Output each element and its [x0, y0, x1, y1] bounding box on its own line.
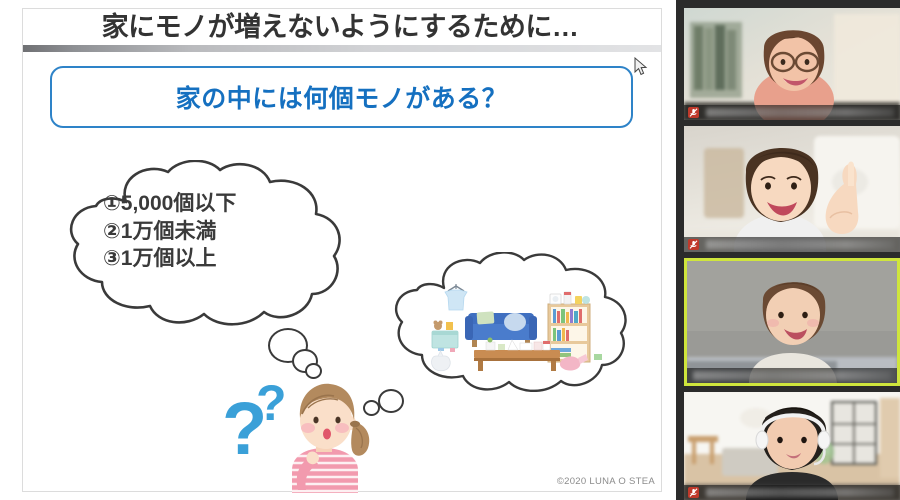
participant-name-bar	[684, 105, 900, 120]
screen-share-view: 家にモノが増えないようにするために… 家の中には何個モノがある？ ①5,000個…	[0, 0, 900, 500]
cursor-arrow-icon	[634, 57, 648, 76]
participant-name-blurred	[706, 488, 894, 497]
mic-muted-icon	[688, 487, 699, 498]
video-tile-participant-1[interactable]	[684, 8, 900, 120]
question-box: 家の中には何個モノがある？	[50, 66, 633, 128]
participant-1-video	[684, 8, 900, 120]
mic-muted-icon	[688, 239, 699, 250]
participant-name-blurred	[693, 371, 891, 380]
participant-name-blurred	[706, 240, 894, 249]
participant-2-video	[684, 126, 900, 252]
participant-name-bar	[684, 485, 900, 500]
mic-muted-icon	[688, 107, 699, 118]
participant-name-bar	[687, 368, 897, 383]
video-tile-participant-4[interactable]	[684, 392, 900, 500]
list-item: ①5,000個以下	[103, 190, 318, 218]
toy-box-icon	[432, 321, 458, 353]
thinking-woman-illustration	[272, 378, 382, 493]
participant-name-bar	[684, 237, 900, 252]
page-title: 家にモノが増えないようにするために…	[60, 9, 620, 45]
thought-bubble-trail	[305, 363, 322, 379]
participant-video-panel	[676, 0, 900, 500]
participant-4-video	[684, 392, 900, 500]
video-tile-participant-3[interactable]	[684, 258, 900, 386]
coffee-table-icon	[474, 338, 560, 372]
participant-name-blurred	[706, 108, 894, 117]
hanging-shirt-icon	[445, 284, 467, 310]
video-tile-participant-2[interactable]	[684, 126, 900, 252]
answer-list: ①5,000個以下 ②1万個未満 ③1万個以上	[103, 190, 318, 273]
small-item-icon	[594, 354, 602, 360]
sofa-icon	[465, 311, 537, 347]
question-text: 家の中には何個モノがある？	[52, 68, 631, 126]
answers-thought-cloud: ①5,000個以下 ②1万個未満 ③1万個以上	[58, 160, 358, 335]
cluttered-room-illustration	[430, 278, 615, 373]
title-divider	[23, 45, 661, 52]
participant-3-video	[687, 261, 897, 383]
list-item: ②1万個未満	[103, 218, 318, 246]
room-thought-cloud	[390, 252, 650, 392]
shared-slide-area: 家にモノが増えないようにするために… 家の中には何個モノがある？ ①5,000個…	[0, 0, 676, 500]
list-item: ③1万個以上	[103, 245, 318, 273]
trash-bag-icon	[432, 351, 451, 371]
copyright-notice: ©2020 LUNA O STEA	[470, 476, 655, 487]
